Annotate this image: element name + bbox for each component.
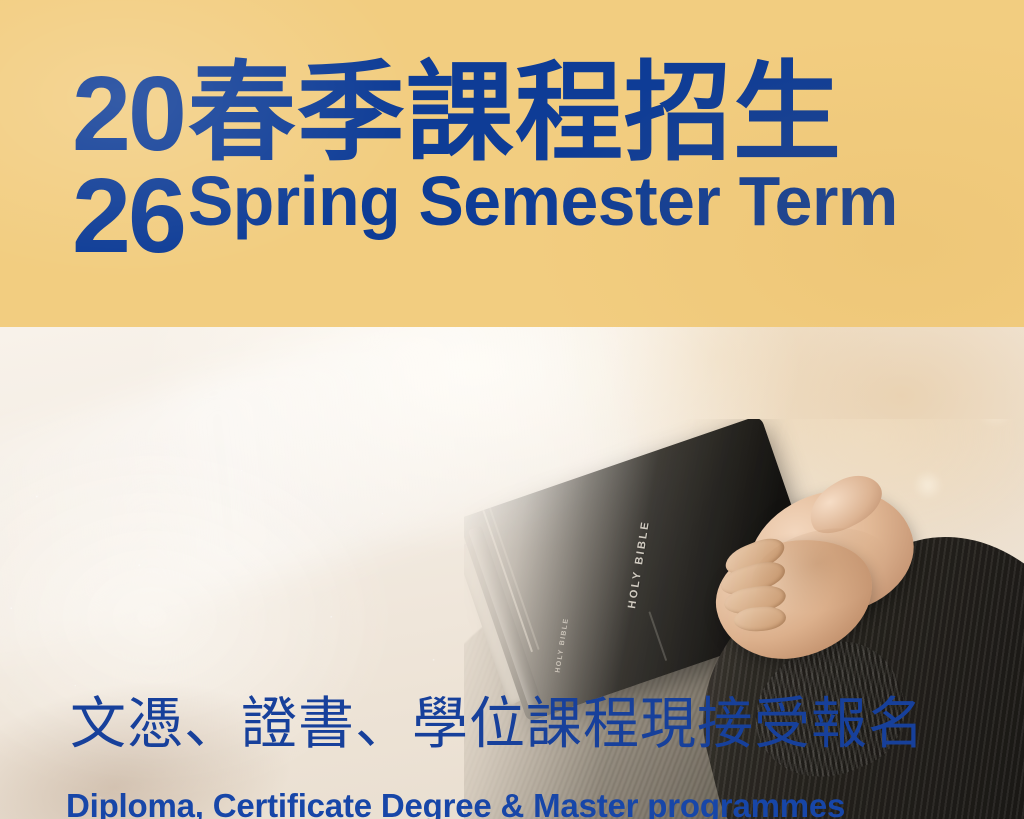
title-stack: 春季課程招生 Spring Semester Term <box>188 58 1002 236</box>
clasped-hands <box>710 485 940 685</box>
headline-block: 20 26 春季課程招生 Spring Semester Term <box>72 58 1002 283</box>
year-bottom: 26 <box>72 166 184 268</box>
headline-english: Spring Semester Term <box>188 166 978 236</box>
lower-section: HOLY BIBLE HOLY BIBLE 文憑、證書、學位課程現接受報名 Di… <box>0 327 1024 819</box>
year-stack: 20 26 <box>72 64 184 268</box>
top-yellow-band: 20 26 春季課程招生 Spring Semester Term <box>0 0 1024 327</box>
bible-hands-photo: HOLY BIBLE HOLY BIBLE <box>464 419 1024 819</box>
headline-chinese: 春季課程招生 <box>188 58 1002 170</box>
subheadline-english-line1: Diploma, Certificate Degree & Master pro… <box>66 785 845 819</box>
promotional-banner: 20 26 春季課程招生 Spring Semester Term <box>0 0 1024 819</box>
year-top: 20 <box>72 64 184 166</box>
subheadline-chinese: 文憑、證書、學位課程現接受報名 <box>70 695 925 755</box>
subheadline-english: Diploma, Certificate Degree & Master pro… <box>66 785 845 819</box>
